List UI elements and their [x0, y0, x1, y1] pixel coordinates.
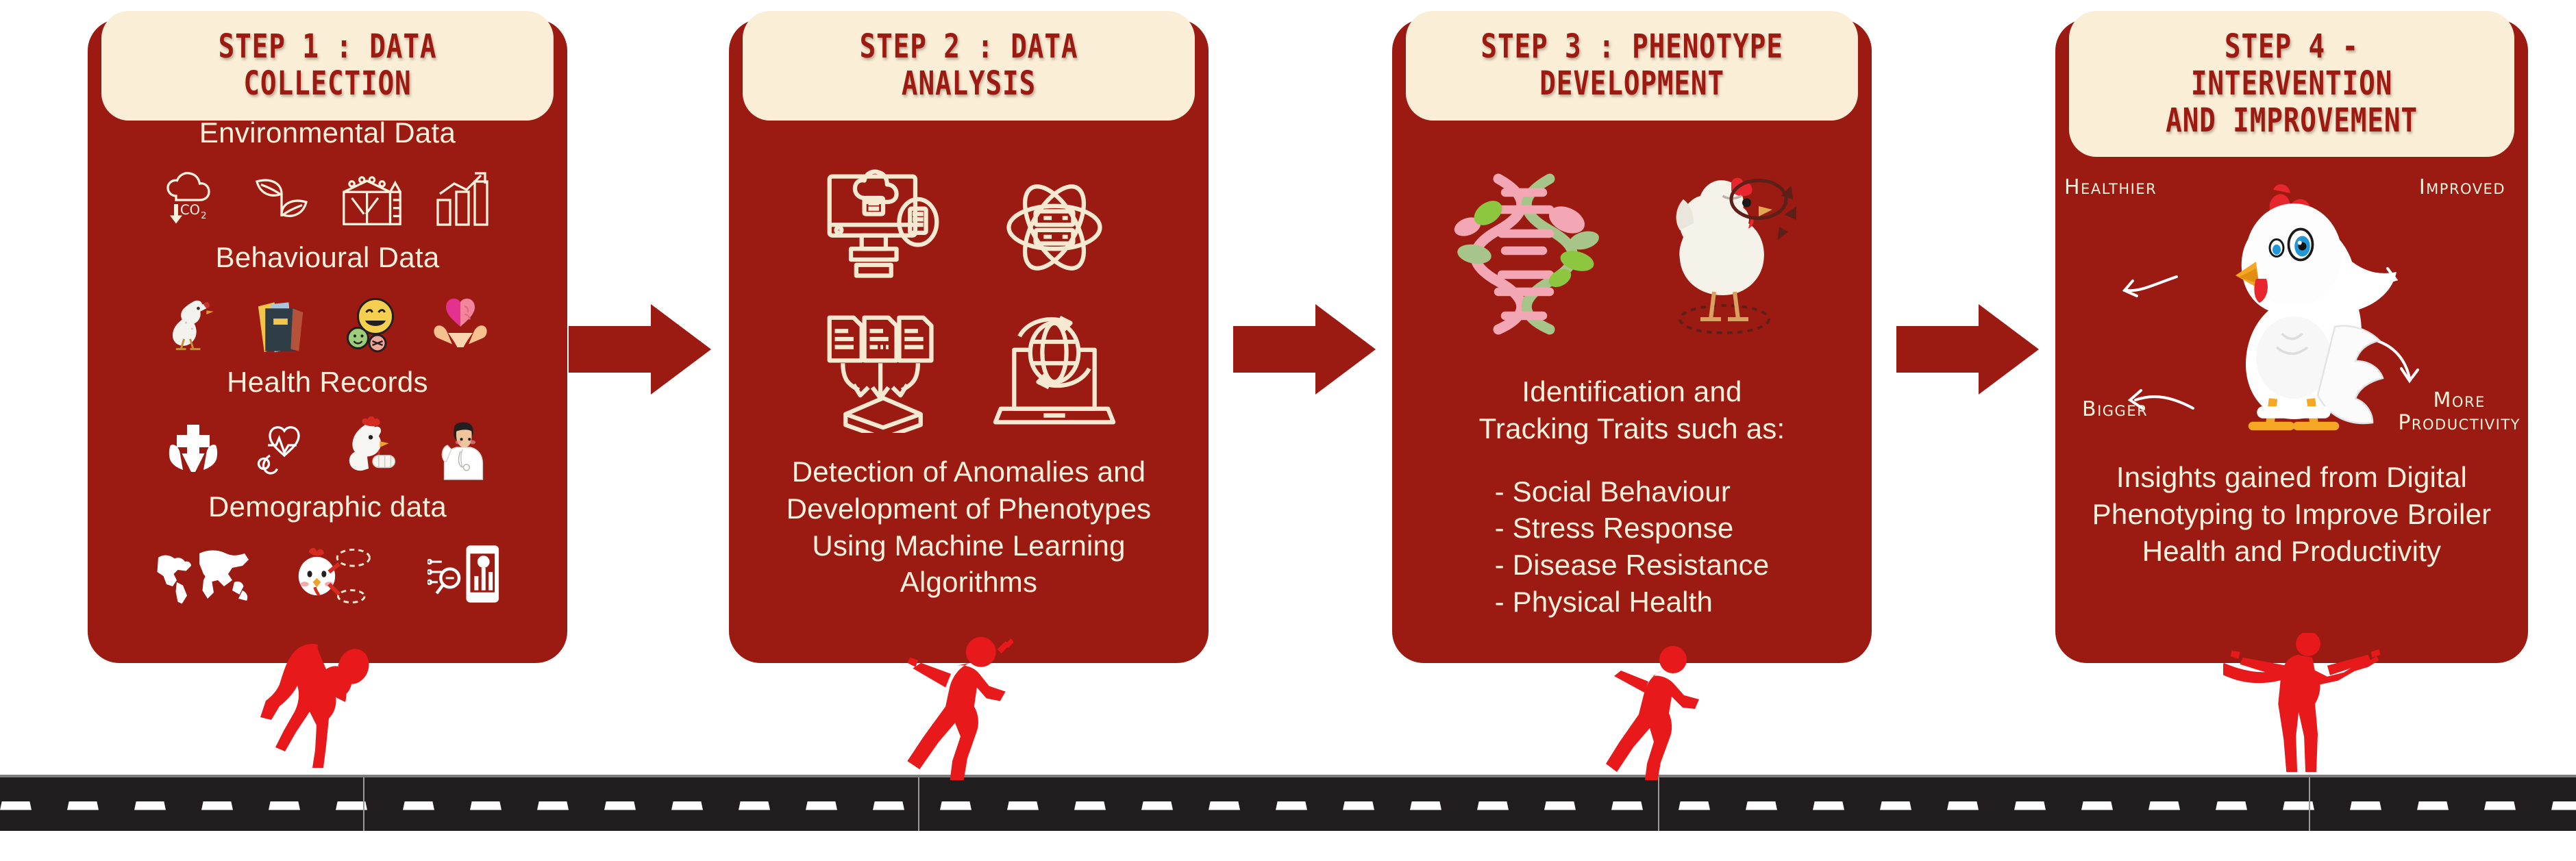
- step-2-icon-grid: [818, 166, 1119, 433]
- group-label: Behavioural Data: [88, 241, 567, 274]
- road-dash: [2014, 801, 2046, 810]
- road-dash: [873, 801, 904, 810]
- road-dash: [1074, 801, 1106, 810]
- group-label: Demographic data: [88, 490, 567, 523]
- step-2-description: Detection of Anomalies and Development o…: [787, 453, 1152, 601]
- lane-tick: [363, 777, 364, 831]
- lane-tick: [1658, 777, 1659, 831]
- road-dash: [604, 801, 636, 810]
- runner-sprint-stride: [1596, 643, 1720, 780]
- road-dash: [2081, 801, 2113, 810]
- notebooks-files-icon: [248, 292, 315, 358]
- race-track-road: [0, 777, 2576, 831]
- step-3-body: Identification and Tracking Traits such …: [1392, 156, 1872, 648]
- step-3-header: STEP 3 : PHENOTYPE DEVELOPMENT: [1406, 11, 1858, 121]
- road-dash: [2417, 801, 2449, 810]
- road-dash: [1679, 801, 1710, 810]
- emoji-faces-icon: [338, 292, 404, 358]
- group-label: Environmental Data: [88, 116, 567, 149]
- flow-arrow-1-to-2: [569, 295, 713, 404]
- step-1-body: Environmental Data CO 2: [88, 115, 567, 648]
- road-dash: [1477, 801, 1509, 810]
- step-4-illustration: Healthier Improved Bigger More Productiv…: [2059, 167, 2525, 441]
- road-dash: [1813, 801, 1844, 810]
- lane-tick: [2309, 777, 2310, 831]
- group-environmental-data: Environmental Data CO 2: [88, 116, 567, 240]
- road-dash: [2148, 801, 2180, 810]
- lane-tick: [918, 777, 919, 831]
- road-dash: [806, 801, 837, 810]
- step-4-description: Insights gained from Digital Phenotyping…: [2092, 459, 2492, 569]
- icon-row-demographic: [88, 526, 567, 607]
- mobile-analytics-icon: [428, 541, 503, 607]
- road-dash: [470, 801, 501, 810]
- flow-arrow-3-to-4: [1896, 295, 2040, 404]
- chicken-face-callout-icon: [286, 541, 396, 607]
- icon-row-health: [88, 401, 567, 482]
- road-dash: [1141, 801, 1173, 810]
- dna-leaves-icon: [1454, 169, 1611, 343]
- trait-item: - Social Behaviour: [1495, 473, 1770, 510]
- road-dash: [739, 801, 770, 810]
- doctor-icon: [430, 416, 495, 482]
- road-dash: [1343, 801, 1374, 810]
- runner-sprint-accelerate: [891, 633, 1028, 780]
- road-dash: [201, 801, 233, 810]
- road-dash: [1947, 801, 1979, 810]
- flow-arrow-2-to-3: [1233, 295, 1377, 404]
- road-dash: [2484, 801, 2516, 810]
- road-dash: [1007, 801, 1039, 810]
- step-2-title: STEP 2 : DATA ANALYSIS: [793, 29, 1144, 103]
- road-dash: [1410, 801, 1441, 810]
- svg-text:CO: CO: [180, 202, 200, 218]
- step-3-description: Identification and Tracking Traits such …: [1479, 373, 1785, 447]
- group-demographic-data: Demographic data: [88, 490, 567, 614]
- chicken-standing-icon: [162, 292, 225, 358]
- road-dash: [1880, 801, 1911, 810]
- road-dash: [940, 801, 971, 810]
- rooster-hero-icon: [2188, 179, 2400, 433]
- chicken-thumbs-up-icon: [338, 416, 407, 482]
- world-map-icon: [152, 541, 255, 607]
- step-4-panel: STEP 4 - INTERVENTION AND IMPROVEMENT He…: [2055, 19, 2528, 663]
- chicken-annotated-icon: [1639, 169, 1810, 343]
- documents-to-datastack-icon: [818, 310, 948, 433]
- road-dash: [269, 801, 300, 810]
- road-dashes: [0, 801, 2576, 810]
- leaves-icon: [249, 167, 314, 233]
- road-dash: [403, 801, 434, 810]
- monitor-cloud-server-icon: [818, 166, 948, 289]
- group-label: Health Records: [88, 366, 567, 399]
- medical-cross-hands-icon: [160, 416, 226, 482]
- road-dash: [0, 801, 32, 810]
- road-dash: [2551, 801, 2576, 810]
- road-dash: [1276, 801, 1307, 810]
- step-3-traits-list: - Social Behaviour - Stress Response - D…: [1495, 473, 1770, 621]
- road-dash: [2216, 801, 2247, 810]
- road-dash: [537, 801, 569, 810]
- road-dash: [67, 801, 99, 810]
- icon-row-behavioural: [88, 277, 567, 358]
- step-1-panel: STEP 1 : DATA COLLECTION Environmental D…: [88, 19, 567, 663]
- step-4-header: STEP 4 - INTERVENTION AND IMPROVEMENT: [2069, 11, 2514, 157]
- barn-house-icon: [338, 167, 406, 233]
- step-3-title: STEP 3 : PHENOTYPE DEVELOPMENT: [1481, 29, 1783, 103]
- road-dash: [671, 801, 703, 810]
- group-health-records: Health Records: [88, 366, 567, 489]
- laptop-globe-icon: [989, 310, 1119, 433]
- step-2-body: Detection of Anomalies and Development o…: [729, 149, 1209, 648]
- road-dash: [2350, 801, 2381, 810]
- icon-row-environmental: CO 2: [88, 152, 567, 233]
- step-1-header: STEP 1 : DATA COLLECTION: [101, 11, 554, 121]
- road-dash: [1746, 801, 1777, 810]
- step-2-panel: STEP 2 : DATA ANALYSIS: [729, 19, 1209, 663]
- step-3-panel: STEP 3 : PHENOTYPE DEVELOPMENT: [1392, 19, 1872, 663]
- step-4-title: STEP 4 - INTERVENTION AND IMPROVEMENT: [2119, 29, 2464, 139]
- road-dash: [1544, 801, 1576, 810]
- road-dash: [1611, 801, 1643, 810]
- runner-finish-tape: [2223, 633, 2415, 780]
- group-behavioural-data: Behavioural Data: [88, 241, 567, 364]
- heart-brain-hands-icon: [428, 292, 493, 358]
- heartbeat-stethoscope-icon: [249, 416, 315, 482]
- trait-item: - Physical Health: [1495, 584, 1770, 621]
- step-4-body: Healthier Improved Bigger More Productiv…: [2055, 163, 2528, 648]
- trait-item: - Disease Resistance: [1495, 547, 1770, 584]
- trait-item: - Stress Response: [1495, 510, 1770, 547]
- svg-text:2: 2: [201, 210, 207, 221]
- road-dash: [1209, 801, 1240, 810]
- road-dash: [134, 801, 166, 810]
- co2-cloud-icon: CO 2: [160, 167, 225, 233]
- bar-chart-growth-icon: [430, 167, 495, 233]
- step-1-title: STEP 1 : DATA COLLECTION: [152, 29, 503, 103]
- atom-database-icon: [989, 166, 1119, 289]
- step-3-art: [1454, 169, 1810, 343]
- runner-crouch-start: [252, 636, 389, 780]
- step-2-header: STEP 2 : DATA ANALYSIS: [743, 11, 1195, 121]
